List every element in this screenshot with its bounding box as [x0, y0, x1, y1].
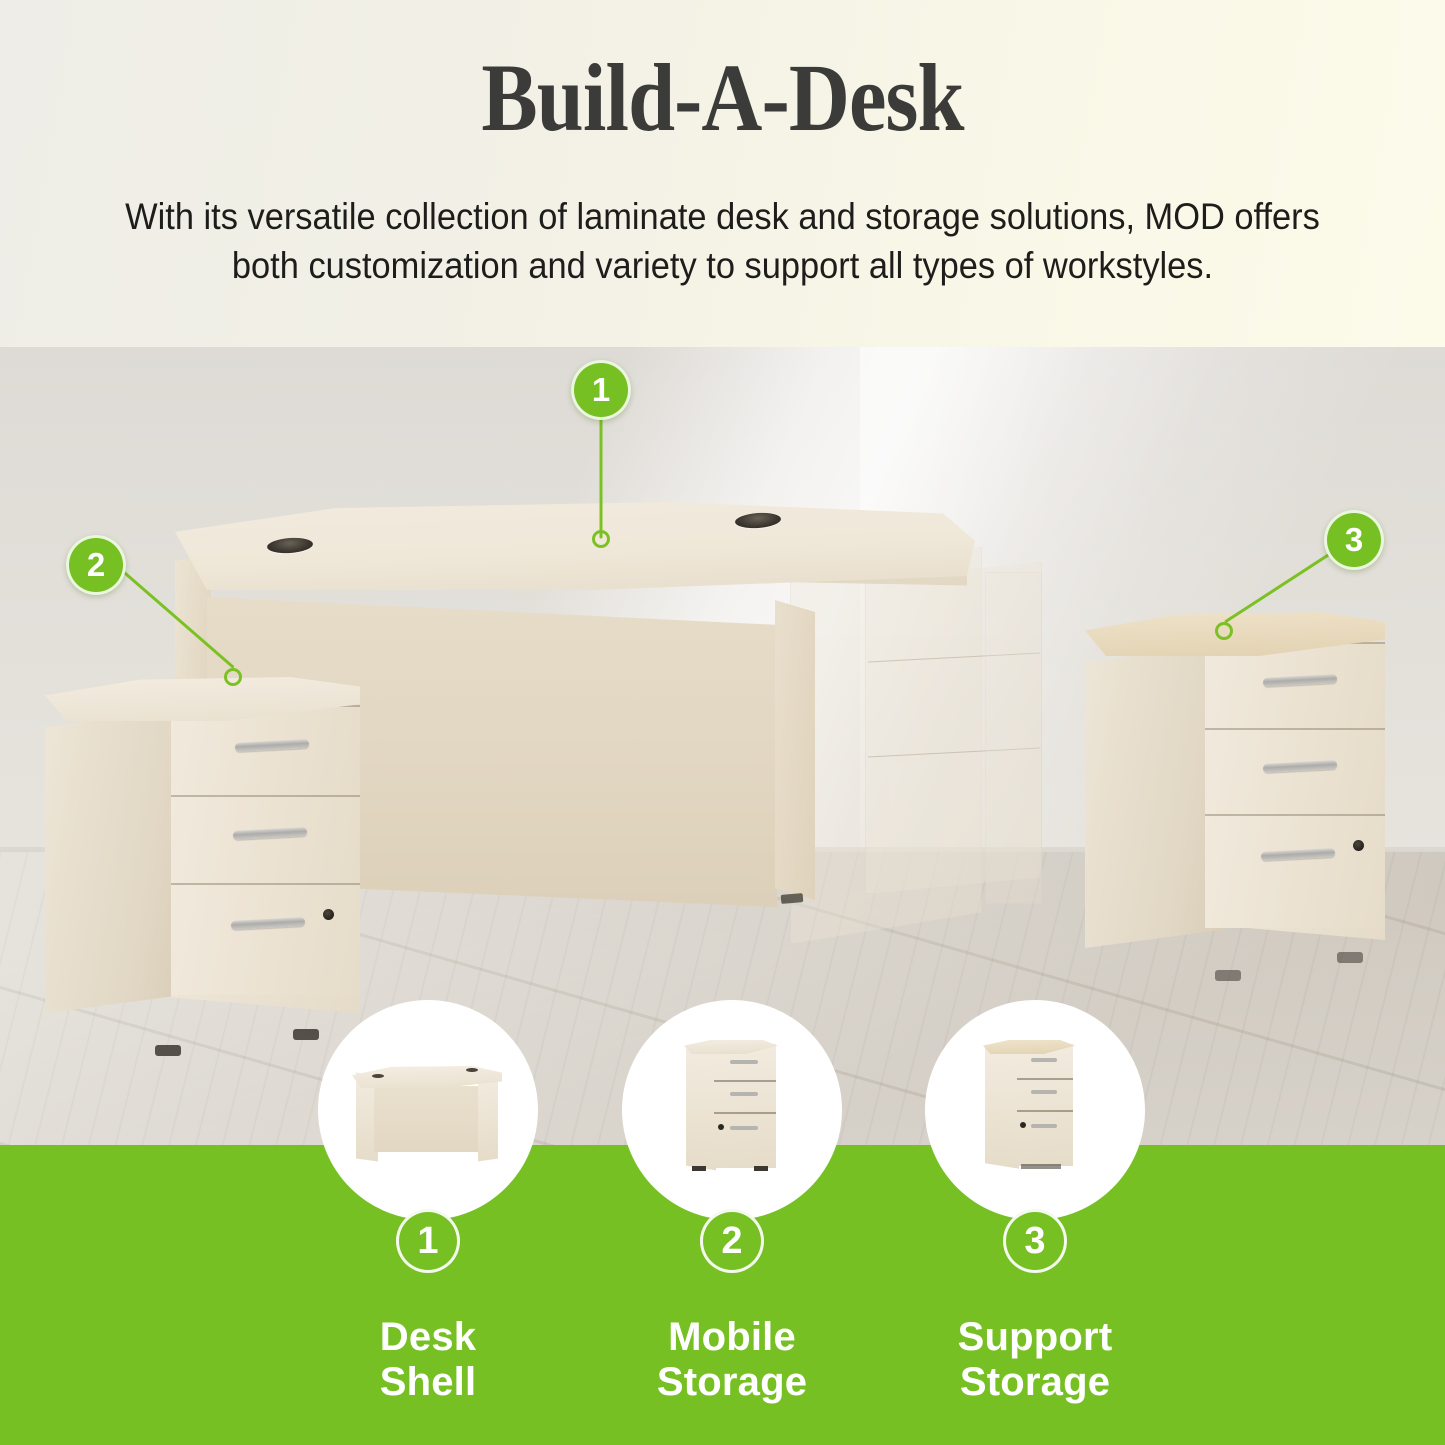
legend-thumb-support-storage: [925, 1000, 1145, 1220]
thumb2-drawer-line-2: [714, 1112, 776, 1114]
thumb3-base: [1021, 1164, 1061, 1169]
mobile-caster-left: [155, 1045, 181, 1056]
legend-label-3: Support Storage: [845, 1315, 1225, 1405]
thumb3-drawer-line-2: [1017, 1110, 1073, 1112]
callout-1-leader: [600, 409, 603, 539]
legend-badge-2[interactable]: 2: [700, 1209, 764, 1273]
page-title: Build-A-Desk: [87, 48, 1359, 149]
legend-thumb-desk-shell: [318, 1000, 538, 1220]
callout-1-endpoint: [592, 530, 610, 548]
desk-right-panel: [775, 600, 815, 900]
mobile-storage-unit: [45, 677, 360, 1067]
support-lock-icon: [1353, 840, 1364, 851]
thumb3-pull-3: [1031, 1124, 1057, 1128]
support-drawer-3-file: [1205, 814, 1385, 928]
thumb1-grommet-right-icon: [466, 1068, 478, 1072]
legend-label-3-line1: Support: [845, 1315, 1225, 1360]
support-glide-left: [1215, 970, 1241, 981]
thumb2-side: [686, 1046, 716, 1171]
legend-badge-1[interactable]: 1: [396, 1209, 460, 1273]
legend-band: 1 Desk Shell: [0, 1145, 1445, 1445]
support-storage-side: [1085, 644, 1223, 948]
thumb3-side: [985, 1045, 1019, 1168]
mobile-caster-right: [293, 1029, 319, 1040]
page-subtitle: With its versatile collection of laminat…: [97, 192, 1348, 290]
thumb3-front: [1017, 1044, 1073, 1166]
mobile-storage-side: [45, 709, 184, 1013]
mobile-lock-icon: [323, 909, 334, 920]
callout-2-endpoint: [224, 668, 242, 686]
thumb2-caster-left: [692, 1166, 706, 1171]
thumb3-pull-1: [1031, 1058, 1057, 1062]
support-glide-right: [1337, 952, 1363, 963]
callout-3-endpoint: [1215, 622, 1233, 640]
thumb1-grommet-left-icon: [372, 1074, 384, 1078]
mobile-drawer-2: [171, 795, 360, 883]
thumb2-pull-2: [730, 1092, 758, 1096]
thumb3-lock-icon: [1020, 1122, 1026, 1128]
support-storage-unit: [1085, 612, 1385, 992]
thumb2-pull-1: [730, 1060, 758, 1064]
legend-bubble-2: [622, 1000, 842, 1220]
legend-label-3-line2: Storage: [845, 1360, 1225, 1405]
thumb2-caster-right: [754, 1166, 768, 1171]
header-banner: Build-A-Desk With its versatile collecti…: [0, 0, 1445, 347]
thumb1-modesty: [374, 1086, 484, 1152]
thumb2-drawer-line-1: [714, 1080, 776, 1082]
legend-bubble-3: [925, 1000, 1145, 1220]
legend-badge-3[interactable]: 3: [1003, 1209, 1067, 1273]
thumb3-drawer-line-1: [1017, 1078, 1073, 1080]
legend-thumb-mobile-storage: [622, 1000, 842, 1220]
callout-2-badge[interactable]: 2: [66, 535, 126, 595]
thumb2-lock-icon: [718, 1124, 724, 1130]
callout-1-badge[interactable]: 1: [571, 360, 631, 420]
legend-bubble-1: [318, 1000, 538, 1220]
thumb1-right-panel: [478, 1075, 498, 1162]
thumb3-pull-2: [1031, 1090, 1057, 1094]
ghost-side-panel: [985, 572, 1042, 904]
desk-foot-right: [781, 893, 804, 904]
infographic-page: Build-A-Desk With its versatile collecti…: [0, 0, 1445, 1445]
callout-3-badge[interactable]: 3: [1324, 510, 1384, 570]
thumb2-pull-3: [730, 1126, 758, 1130]
mobile-drawer-3-file: [171, 883, 360, 995]
